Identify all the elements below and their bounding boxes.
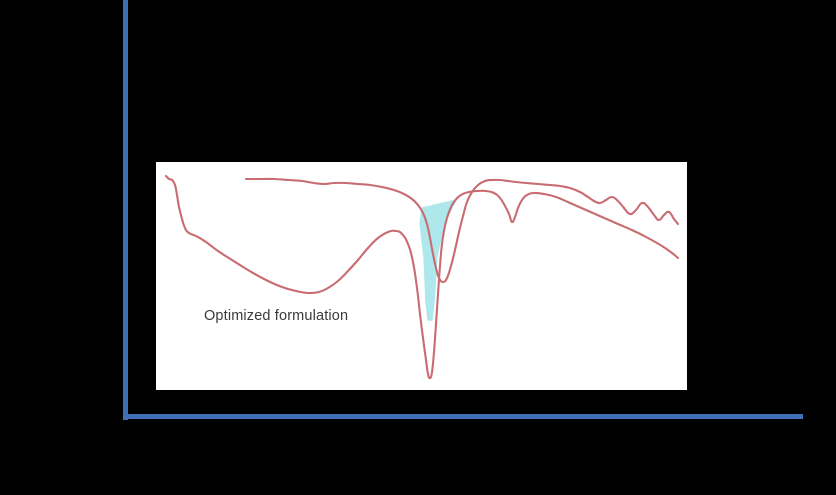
y-axis-line (123, 0, 128, 420)
chart-panel: Optimized formulation (156, 162, 687, 390)
thermogram-plot (156, 162, 687, 390)
plot-annotation-label: Optimized formulation (204, 308, 348, 324)
slide-canvas: Optimized formulation (0, 0, 836, 495)
curve-lower-curve (166, 176, 678, 378)
x-axis-line (123, 414, 803, 419)
